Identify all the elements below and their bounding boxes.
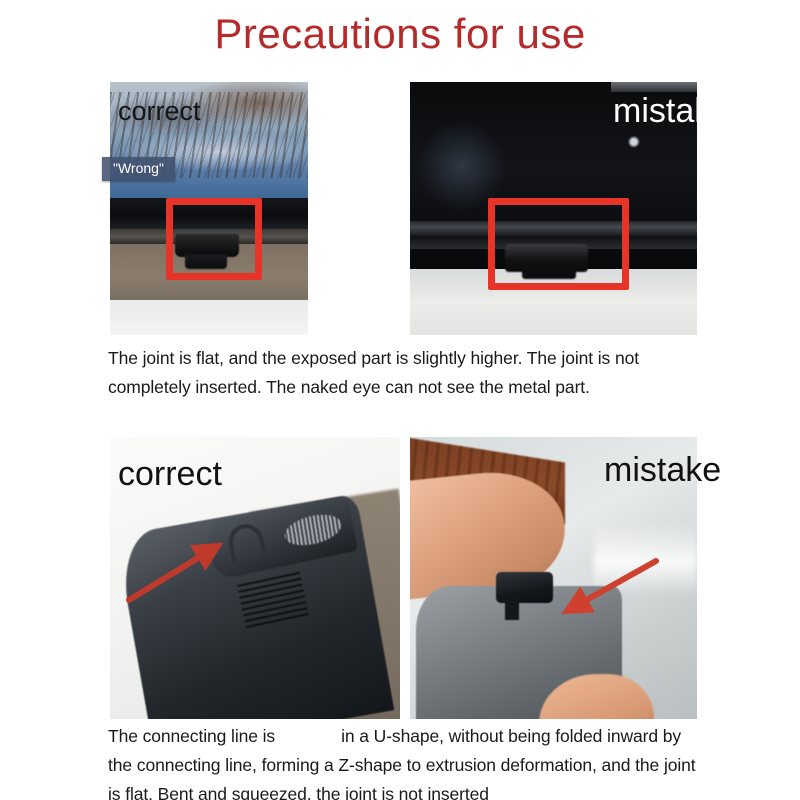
highlight-box-icon (488, 198, 629, 290)
arrow-mistake-icon (560, 555, 670, 625)
floor-surface (110, 300, 308, 335)
z-shape-joint-stem (505, 595, 519, 620)
infographic-page: Precautions for use correct "Wrong" mist… (0, 0, 800, 800)
label-mistake-top: mistake (613, 92, 697, 131)
caption-top: The joint is flat, and the exposed part … (108, 344, 708, 402)
label-correct-top: correct (118, 96, 201, 127)
highlight-box-icon (166, 198, 262, 280)
arrow-correct-icon (125, 540, 235, 610)
caption-bottom-part1: The connecting line is (108, 726, 275, 746)
label-mistake-bottom: mistake (604, 451, 721, 490)
caption-bottom: The connecting line isin a U-shape, with… (108, 722, 708, 800)
screen-top-highlight (611, 82, 697, 92)
wrong-badge: "Wrong" (102, 157, 175, 181)
page-title: Precautions for use (0, 8, 800, 60)
photo-panel-top-right: mistake (410, 82, 697, 335)
label-correct-bottom: correct (118, 455, 222, 494)
